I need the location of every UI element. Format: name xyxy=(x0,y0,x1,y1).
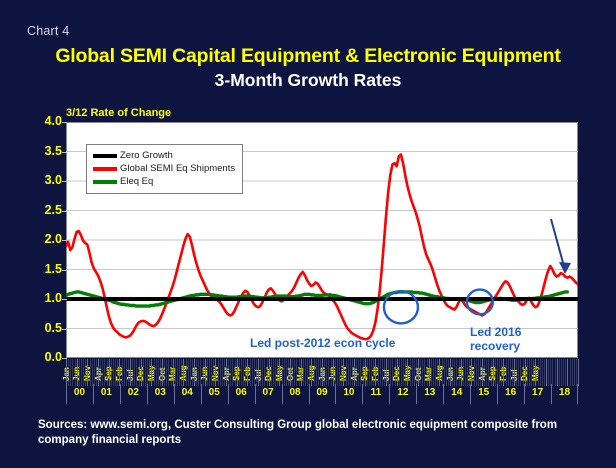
x-axis-minor-tick xyxy=(143,359,144,386)
x-axis-minor-tick xyxy=(429,359,430,386)
slide-canvas: Chart 4 Global SEMI Capital Equipment & … xyxy=(0,0,616,468)
x-axis-minor-tick xyxy=(126,359,127,386)
x-axis-minor-tick xyxy=(151,359,152,386)
x-axis-minor-tick xyxy=(171,359,172,386)
y-axis-tick-mark xyxy=(62,299,67,300)
x-axis: 00010203040506070809101112131415161718Ja… xyxy=(66,359,578,405)
x-axis-minor-tick xyxy=(305,359,306,386)
x-axis-year-separator xyxy=(551,384,552,404)
x-axis-minor-tick xyxy=(574,359,575,386)
x-axis-minor-tick xyxy=(85,359,86,386)
x-axis-minor-tick xyxy=(141,359,142,386)
x-axis-minor-tick xyxy=(288,359,289,386)
x-axis-year-separator xyxy=(174,384,175,404)
x-axis-minor-tick xyxy=(546,359,547,386)
x-axis-minor-tick xyxy=(401,359,402,386)
x-axis-minor-tick xyxy=(572,359,573,386)
x-axis-minor-tick xyxy=(134,359,135,386)
y-axis-tick-label: 1.0 xyxy=(22,291,62,305)
x-axis-minor-tick xyxy=(205,359,206,386)
x-axis-year-separator xyxy=(524,384,525,404)
x-axis-minor-tick xyxy=(352,359,353,386)
legend-label-eleq-eq: Eleq Eq xyxy=(120,176,153,187)
x-axis-minor-tick xyxy=(271,359,272,386)
x-axis-year-separator xyxy=(66,384,67,404)
x-axis-minor-tick xyxy=(177,359,178,386)
x-axis-minor-tick xyxy=(403,359,404,386)
x-axis-minor-tick xyxy=(418,359,419,386)
sources-footer: Sources: www.semi.org, Custer Consulting… xyxy=(38,418,588,448)
x-axis-minor-tick xyxy=(94,359,95,386)
x-axis-minor-tick xyxy=(416,359,417,386)
x-axis-minor-tick xyxy=(544,359,545,386)
x-axis-minor-tick xyxy=(360,359,361,386)
x-axis-minor-tick xyxy=(533,359,534,386)
x-axis-minor-tick xyxy=(256,359,257,386)
x-axis-year-separator xyxy=(443,384,444,404)
x-axis-minor-tick xyxy=(139,359,140,386)
x-axis-minor-tick xyxy=(467,359,468,386)
x-axis-minor-tick xyxy=(516,359,517,386)
x-axis-minor-tick xyxy=(433,359,434,386)
x-axis-minor-tick xyxy=(463,359,464,386)
x-axis-minor-tick xyxy=(578,359,579,386)
x-axis-minor-tick xyxy=(412,359,413,386)
x-axis-minor-tick xyxy=(552,359,553,386)
x-axis-minor-tick xyxy=(209,359,210,386)
x-axis-minor-tick xyxy=(390,359,391,386)
x-axis-minor-tick xyxy=(538,359,539,386)
x-axis-band: 00010203040506070809101112131415161718Ja… xyxy=(66,359,578,405)
x-axis-minor-tick xyxy=(548,359,549,386)
x-axis-year-separator xyxy=(309,384,310,404)
x-axis-minor-tick xyxy=(107,359,108,386)
x-axis-minor-tick xyxy=(576,359,577,386)
y-axis-tick-label: 0.5 xyxy=(22,321,62,335)
x-axis-minor-tick xyxy=(222,359,223,386)
x-axis-minor-tick xyxy=(277,359,278,386)
x-axis-minor-tick xyxy=(444,359,445,386)
x-axis-minor-tick xyxy=(339,359,340,386)
x-axis-minor-tick xyxy=(527,359,528,386)
y-axis-tick-label: 2.5 xyxy=(22,203,62,217)
plot-area: Zero Growth Global SEMI Eq Shipments Ele… xyxy=(66,122,578,358)
x-axis-minor-tick xyxy=(491,359,492,386)
x-axis-minor-tick xyxy=(200,359,201,386)
x-axis-minor-tick xyxy=(567,359,568,386)
legend-item-eleq-eq: Eleq Eq xyxy=(93,175,235,188)
annotation-led-2016-recovery: Led 2016 recovery xyxy=(470,325,521,353)
x-axis-minor-tick xyxy=(427,359,428,386)
x-axis-minor-tick xyxy=(115,359,116,386)
y-axis-tick-mark xyxy=(62,122,67,123)
x-axis-minor-tick xyxy=(365,359,366,386)
x-axis-minor-tick xyxy=(497,359,498,386)
x-axis-minor-tick xyxy=(203,359,204,386)
y-axis-tick-mark xyxy=(62,211,67,212)
x-axis-minor-tick xyxy=(565,359,566,386)
x-axis-year-separator xyxy=(577,384,578,404)
x-axis-minor-tick xyxy=(324,359,325,386)
x-axis-minor-tick xyxy=(335,359,336,386)
x-axis-minor-tick xyxy=(258,359,259,386)
x-axis-minor-tick xyxy=(486,359,487,386)
x-axis-minor-tick xyxy=(179,359,180,386)
x-axis-minor-tick xyxy=(386,359,387,386)
x-axis-minor-tick xyxy=(531,359,532,386)
x-axis-minor-tick xyxy=(540,359,541,386)
x-axis-minor-tick xyxy=(235,359,236,386)
x-axis-minor-tick xyxy=(397,359,398,386)
x-axis-minor-tick xyxy=(286,359,287,386)
x-axis-minor-tick xyxy=(471,359,472,386)
x-axis-year-separator xyxy=(147,384,148,404)
x-axis-minor-tick xyxy=(220,359,221,386)
x-axis-minor-tick xyxy=(156,359,157,386)
x-axis-minor-tick xyxy=(66,359,67,386)
x-axis-minor-tick xyxy=(388,359,389,386)
x-axis-minor-tick xyxy=(207,359,208,386)
x-axis-minor-tick xyxy=(328,359,329,386)
x-axis-minor-tick xyxy=(474,359,475,386)
x-axis-minor-tick xyxy=(273,359,274,386)
x-axis-minor-tick xyxy=(375,359,376,386)
x-axis-minor-tick xyxy=(128,359,129,386)
x-axis-minor-tick xyxy=(484,359,485,386)
x-axis-minor-tick xyxy=(247,359,248,386)
y-axis-tick-label: 4.0 xyxy=(22,114,62,128)
x-axis-minor-tick xyxy=(173,359,174,386)
x-axis-minor-tick xyxy=(476,359,477,386)
x-axis-minor-tick xyxy=(119,359,120,386)
x-axis-minor-tick xyxy=(346,359,347,386)
x-axis-minor-tick xyxy=(224,359,225,386)
y-axis-tick-label: 3.5 xyxy=(22,144,62,158)
x-axis-year-separator xyxy=(201,384,202,404)
y-axis-tick-label: 3.0 xyxy=(22,173,62,187)
legend-item-semi-shipments: Global SEMI Eq Shipments xyxy=(93,162,235,175)
x-axis-minor-tick xyxy=(309,359,310,386)
x-axis-minor-tick xyxy=(493,359,494,386)
y-axis-tick-mark xyxy=(62,181,67,182)
x-axis-minor-tick xyxy=(495,359,496,386)
x-axis-year-separator xyxy=(255,384,256,404)
x-axis-minor-tick xyxy=(181,359,182,386)
legend-label-zero-growth: Zero Growth xyxy=(120,150,173,161)
x-axis-minor-tick xyxy=(190,359,191,386)
x-axis-minor-tick xyxy=(525,359,526,386)
annotation-led-post-2012: Led post-2012 econ cycle xyxy=(250,336,395,350)
x-axis-minor-tick xyxy=(448,359,449,386)
x-axis-minor-tick xyxy=(405,359,406,386)
x-axis-minor-tick xyxy=(194,359,195,386)
x-axis-minor-tick xyxy=(512,359,513,386)
x-axis-minor-tick xyxy=(228,359,229,386)
x-axis-minor-tick xyxy=(122,359,123,386)
x-axis-minor-tick xyxy=(124,359,125,386)
x-axis-minor-tick xyxy=(488,359,489,386)
x-axis-minor-tick xyxy=(371,359,372,386)
x-axis-minor-tick xyxy=(407,359,408,386)
x-axis-minor-tick xyxy=(68,359,69,386)
x-axis-minor-tick xyxy=(109,359,110,386)
x-axis-minor-tick xyxy=(303,359,304,386)
y-axis-tick-mark xyxy=(62,152,67,153)
x-axis-minor-tick xyxy=(90,359,91,386)
x-axis-minor-tick xyxy=(499,359,500,386)
x-axis-minor-tick xyxy=(435,359,436,386)
x-axis-minor-tick xyxy=(501,359,502,386)
x-axis-year-separator xyxy=(282,384,283,404)
legend-label-semi-shipments: Global SEMI Eq Shipments xyxy=(120,163,235,174)
x-axis-minor-tick xyxy=(459,359,460,386)
y-axis-tick-label: 1.5 xyxy=(22,262,62,276)
x-axis-minor-tick xyxy=(392,359,393,386)
x-axis-minor-tick xyxy=(252,359,253,386)
x-axis-minor-tick xyxy=(83,359,84,386)
x-axis-minor-tick xyxy=(241,359,242,386)
x-axis-minor-tick xyxy=(175,359,176,386)
x-axis-minor-tick xyxy=(188,359,189,386)
x-axis-minor-tick xyxy=(373,359,374,386)
x-axis-minor-tick xyxy=(363,359,364,386)
x-axis-minor-tick xyxy=(294,359,295,386)
x-axis-minor-tick xyxy=(550,359,551,386)
y-axis-tick-label: 0.0 xyxy=(22,350,62,364)
x-axis-minor-tick xyxy=(563,359,564,386)
x-axis-minor-tick xyxy=(230,359,231,386)
x-axis-minor-tick xyxy=(326,359,327,386)
x-axis-minor-tick xyxy=(322,359,323,386)
x-axis-minor-tick xyxy=(81,359,82,386)
x-axis-minor-tick xyxy=(520,359,521,386)
x-axis-minor-tick xyxy=(480,359,481,386)
x-axis-minor-tick xyxy=(465,359,466,386)
x-axis-minor-tick xyxy=(307,359,308,386)
x-axis-minor-tick xyxy=(145,359,146,386)
x-axis-minor-tick xyxy=(358,359,359,386)
overlay-layer xyxy=(384,219,571,323)
x-axis-minor-tick xyxy=(77,359,78,386)
x-axis-minor-tick xyxy=(245,359,246,386)
x-axis-minor-tick xyxy=(262,359,263,386)
x-axis-minor-tick xyxy=(301,359,302,386)
x-axis-minor-tick xyxy=(168,359,169,386)
x-axis-minor-tick xyxy=(75,359,76,386)
x-axis-minor-tick xyxy=(514,359,515,386)
x-axis-year-separator xyxy=(416,384,417,404)
x-axis-minor-tick xyxy=(395,359,396,386)
x-axis-year-separator xyxy=(389,384,390,404)
x-axis-minor-tick xyxy=(535,359,536,386)
y-axis-tick-label: 2.0 xyxy=(22,232,62,246)
x-axis-minor-tick xyxy=(414,359,415,386)
y-axis-tick-mark xyxy=(62,358,67,359)
x-axis-minor-tick xyxy=(452,359,453,386)
x-axis-minor-tick xyxy=(316,359,317,386)
x-axis-minor-tick xyxy=(350,359,351,386)
x-axis-minor-tick xyxy=(461,359,462,386)
x-axis-minor-tick xyxy=(117,359,118,386)
legend-swatch-zero-growth xyxy=(93,154,117,158)
x-axis-minor-tick xyxy=(164,359,165,386)
x-axis-minor-tick xyxy=(439,359,440,386)
page-title: Global SEMI Capital Equipment & Electron… xyxy=(0,44,616,69)
x-axis-minor-tick xyxy=(454,359,455,386)
x-axis-minor-tick xyxy=(267,359,268,386)
x-axis-minor-tick xyxy=(482,359,483,386)
x-axis-minor-tick xyxy=(260,359,261,386)
x-axis-minor-tick xyxy=(192,359,193,386)
x-axis-minor-tick xyxy=(503,359,504,386)
x-axis-year-separator xyxy=(335,384,336,404)
x-axis-minor-tick xyxy=(87,359,88,386)
x-axis-year-separator xyxy=(120,384,121,404)
x-axis-minor-tick xyxy=(384,359,385,386)
x-axis-minor-tick xyxy=(529,359,530,386)
x-axis-year-separator xyxy=(470,384,471,404)
x-axis-minor-tick xyxy=(275,359,276,386)
x-axis-minor-tick xyxy=(79,359,80,386)
x-axis-minor-tick xyxy=(399,359,400,386)
chart-number-label: Chart 4 xyxy=(27,24,69,38)
x-axis-minor-tick xyxy=(442,359,443,386)
x-axis-minor-tick xyxy=(422,359,423,386)
x-axis-minor-tick xyxy=(196,359,197,386)
x-axis-minor-tick xyxy=(320,359,321,386)
x-axis-minor-tick xyxy=(559,359,560,386)
x-axis-minor-tick xyxy=(198,359,199,386)
x-axis-minor-tick xyxy=(431,359,432,386)
x-axis-minor-tick xyxy=(102,359,103,386)
x-axis-minor-tick xyxy=(299,359,300,386)
x-axis-minor-tick xyxy=(518,359,519,386)
legend-item-zero-growth: Zero Growth xyxy=(93,149,235,162)
title-block: Global SEMI Capital Equipment & Electron… xyxy=(0,44,616,92)
rate-of-change-label: 3/12 Rate of Change xyxy=(66,107,171,119)
x-axis-minor-tick xyxy=(104,359,105,386)
x-axis-minor-tick xyxy=(367,359,368,386)
x-axis-minor-tick xyxy=(111,359,112,386)
x-axis-year-separator xyxy=(228,384,229,404)
y-axis: 0.00.51.01.52.02.53.03.54.0 xyxy=(18,122,62,358)
x-axis-minor-tick xyxy=(557,359,558,386)
x-axis-minor-tick xyxy=(570,359,571,386)
x-axis-minor-tick xyxy=(446,359,447,386)
x-axis-minor-tick xyxy=(226,359,227,386)
x-axis-minor-tick xyxy=(292,359,293,386)
x-axis-minor-tick xyxy=(356,359,357,386)
legend: Zero Growth Global SEMI Eq Shipments Ele… xyxy=(86,144,243,194)
x-axis-minor-tick xyxy=(130,359,131,386)
x-axis-minor-tick xyxy=(314,359,315,386)
x-axis-minor-tick xyxy=(420,359,421,386)
x-axis-minor-tick xyxy=(508,359,509,386)
x-axis-minor-tick xyxy=(113,359,114,386)
x-axis-minor-tick xyxy=(348,359,349,386)
x-axis-minor-tick xyxy=(132,359,133,386)
x-axis-minor-tick xyxy=(166,359,167,386)
x-axis-minor-tick xyxy=(250,359,251,386)
x-axis-minor-tick xyxy=(296,359,297,386)
x-axis-minor-tick xyxy=(311,359,312,386)
x-axis-minor-tick xyxy=(337,359,338,386)
x-axis-minor-tick xyxy=(70,359,71,386)
x-axis-minor-tick xyxy=(243,359,244,386)
x-axis-minor-tick xyxy=(437,359,438,386)
x-axis-minor-tick xyxy=(469,359,470,386)
x-axis-minor-tick xyxy=(318,359,319,386)
x-axis-minor-tick xyxy=(183,359,184,386)
x-axis-minor-tick xyxy=(369,359,370,386)
x-axis-minor-tick xyxy=(239,359,240,386)
x-axis-minor-tick xyxy=(213,359,214,386)
x-axis-minor-tick xyxy=(162,359,163,386)
x-axis-minor-tick xyxy=(354,359,355,386)
x-axis-minor-tick xyxy=(378,359,379,386)
x-axis-minor-tick xyxy=(147,359,148,386)
x-axis-minor-tick xyxy=(282,359,283,386)
x-axis-minor-tick xyxy=(254,359,255,386)
x-axis-minor-tick xyxy=(424,359,425,386)
x-axis-minor-tick xyxy=(72,359,73,386)
circle-2013 xyxy=(384,291,418,323)
x-axis-year-separator xyxy=(362,384,363,404)
x-axis-minor-tick xyxy=(290,359,291,386)
x-axis-minor-tick xyxy=(96,359,97,386)
x-axis-minor-tick xyxy=(98,359,99,386)
x-axis-minor-tick xyxy=(158,359,159,386)
x-axis-year-separator xyxy=(93,384,94,404)
x-axis-minor-tick xyxy=(410,359,411,386)
x-axis-minor-tick xyxy=(284,359,285,386)
x-axis-minor-tick xyxy=(506,359,507,386)
y-axis-tick-mark xyxy=(62,329,67,330)
x-axis-minor-tick xyxy=(382,359,383,386)
x-axis-minor-tick xyxy=(160,359,161,386)
y-axis-tick-mark xyxy=(62,270,67,271)
y-axis-tick-mark xyxy=(62,240,67,241)
x-axis-minor-tick xyxy=(542,359,543,386)
page-subtitle: 3-Month Growth Rates xyxy=(0,69,616,92)
x-axis-minor-tick xyxy=(215,359,216,386)
x-axis-minor-tick xyxy=(100,359,101,386)
x-axis-minor-tick xyxy=(136,359,137,386)
x-axis-minor-tick xyxy=(331,359,332,386)
x-axis-minor-tick xyxy=(561,359,562,386)
x-axis-minor-tick xyxy=(478,359,479,386)
x-axis-minor-tick xyxy=(154,359,155,386)
x-axis-minor-tick xyxy=(269,359,270,386)
x-axis-minor-tick xyxy=(343,359,344,386)
x-axis-minor-tick xyxy=(264,359,265,386)
x-axis-minor-tick xyxy=(523,359,524,386)
legend-swatch-semi-shipments xyxy=(93,167,117,171)
x-axis-minor-tick xyxy=(149,359,150,386)
x-axis-minor-tick xyxy=(555,359,556,386)
x-axis-minor-tick xyxy=(186,359,187,386)
x-axis-minor-tick xyxy=(211,359,212,386)
legend-swatch-eleq-eq xyxy=(93,180,117,184)
x-axis-minor-tick xyxy=(237,359,238,386)
x-axis-minor-tick xyxy=(333,359,334,386)
x-axis-minor-tick xyxy=(380,359,381,386)
x-axis-year-separator xyxy=(497,384,498,404)
x-axis-minor-tick xyxy=(218,359,219,386)
x-axis-minor-tick xyxy=(510,359,511,386)
x-axis-minor-tick xyxy=(450,359,451,386)
x-axis-minor-tick xyxy=(341,359,342,386)
